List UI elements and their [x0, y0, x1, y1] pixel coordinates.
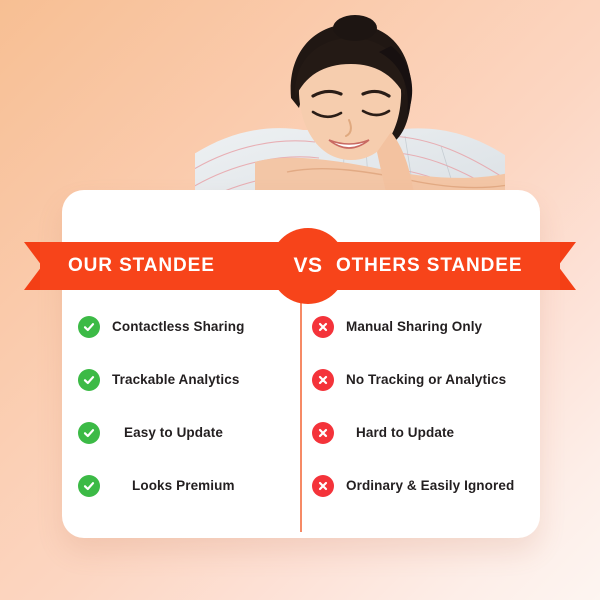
check-circle-icon [78, 422, 100, 444]
infographic-canvas: OUR STANDEE VS OTHERS STANDEE Contactles… [0, 0, 600, 600]
list-item-label: No Tracking or Analytics [346, 372, 506, 387]
list-item: Easy to Update [78, 406, 293, 459]
x-circle-icon [312, 422, 334, 444]
x-circle-icon [312, 475, 334, 497]
list-item-label: Manual Sharing Only [346, 319, 482, 334]
others-standee-title: OTHERS STANDEE [336, 242, 551, 290]
list-item-label: Trackable Analytics [112, 372, 239, 387]
x-circle-icon [312, 369, 334, 391]
check-circle-icon [78, 369, 100, 391]
list-item: Ordinary & Easily Ignored [312, 459, 537, 512]
list-item-label: Easy to Update [124, 425, 223, 440]
vs-label: VS [293, 254, 322, 278]
vs-badge: VS [270, 228, 346, 304]
list-item: Manual Sharing Only [312, 300, 537, 353]
list-item-label: Ordinary & Easily Ignored [346, 478, 514, 493]
list-item: Hard to Update [312, 406, 537, 459]
ribbon-banner: OUR STANDEE VS OTHERS STANDEE [0, 228, 600, 304]
list-item-label: Hard to Update [356, 425, 454, 440]
cons-column: Manual Sharing Only No Tracking or Analy… [312, 300, 537, 512]
list-item-label: Looks Premium [132, 478, 235, 493]
our-standee-title: OUR STANDEE [68, 242, 263, 290]
list-item: Trackable Analytics [78, 353, 293, 406]
list-item: No Tracking or Analytics [312, 353, 537, 406]
list-item: Contactless Sharing [78, 300, 293, 353]
column-divider [300, 282, 302, 532]
check-circle-icon [78, 475, 100, 497]
x-circle-icon [312, 316, 334, 338]
list-item-label: Contactless Sharing [112, 319, 244, 334]
check-circle-icon [78, 316, 100, 338]
list-item: Looks Premium [78, 459, 293, 512]
pros-column: Contactless Sharing Trackable Analytics … [78, 300, 293, 512]
